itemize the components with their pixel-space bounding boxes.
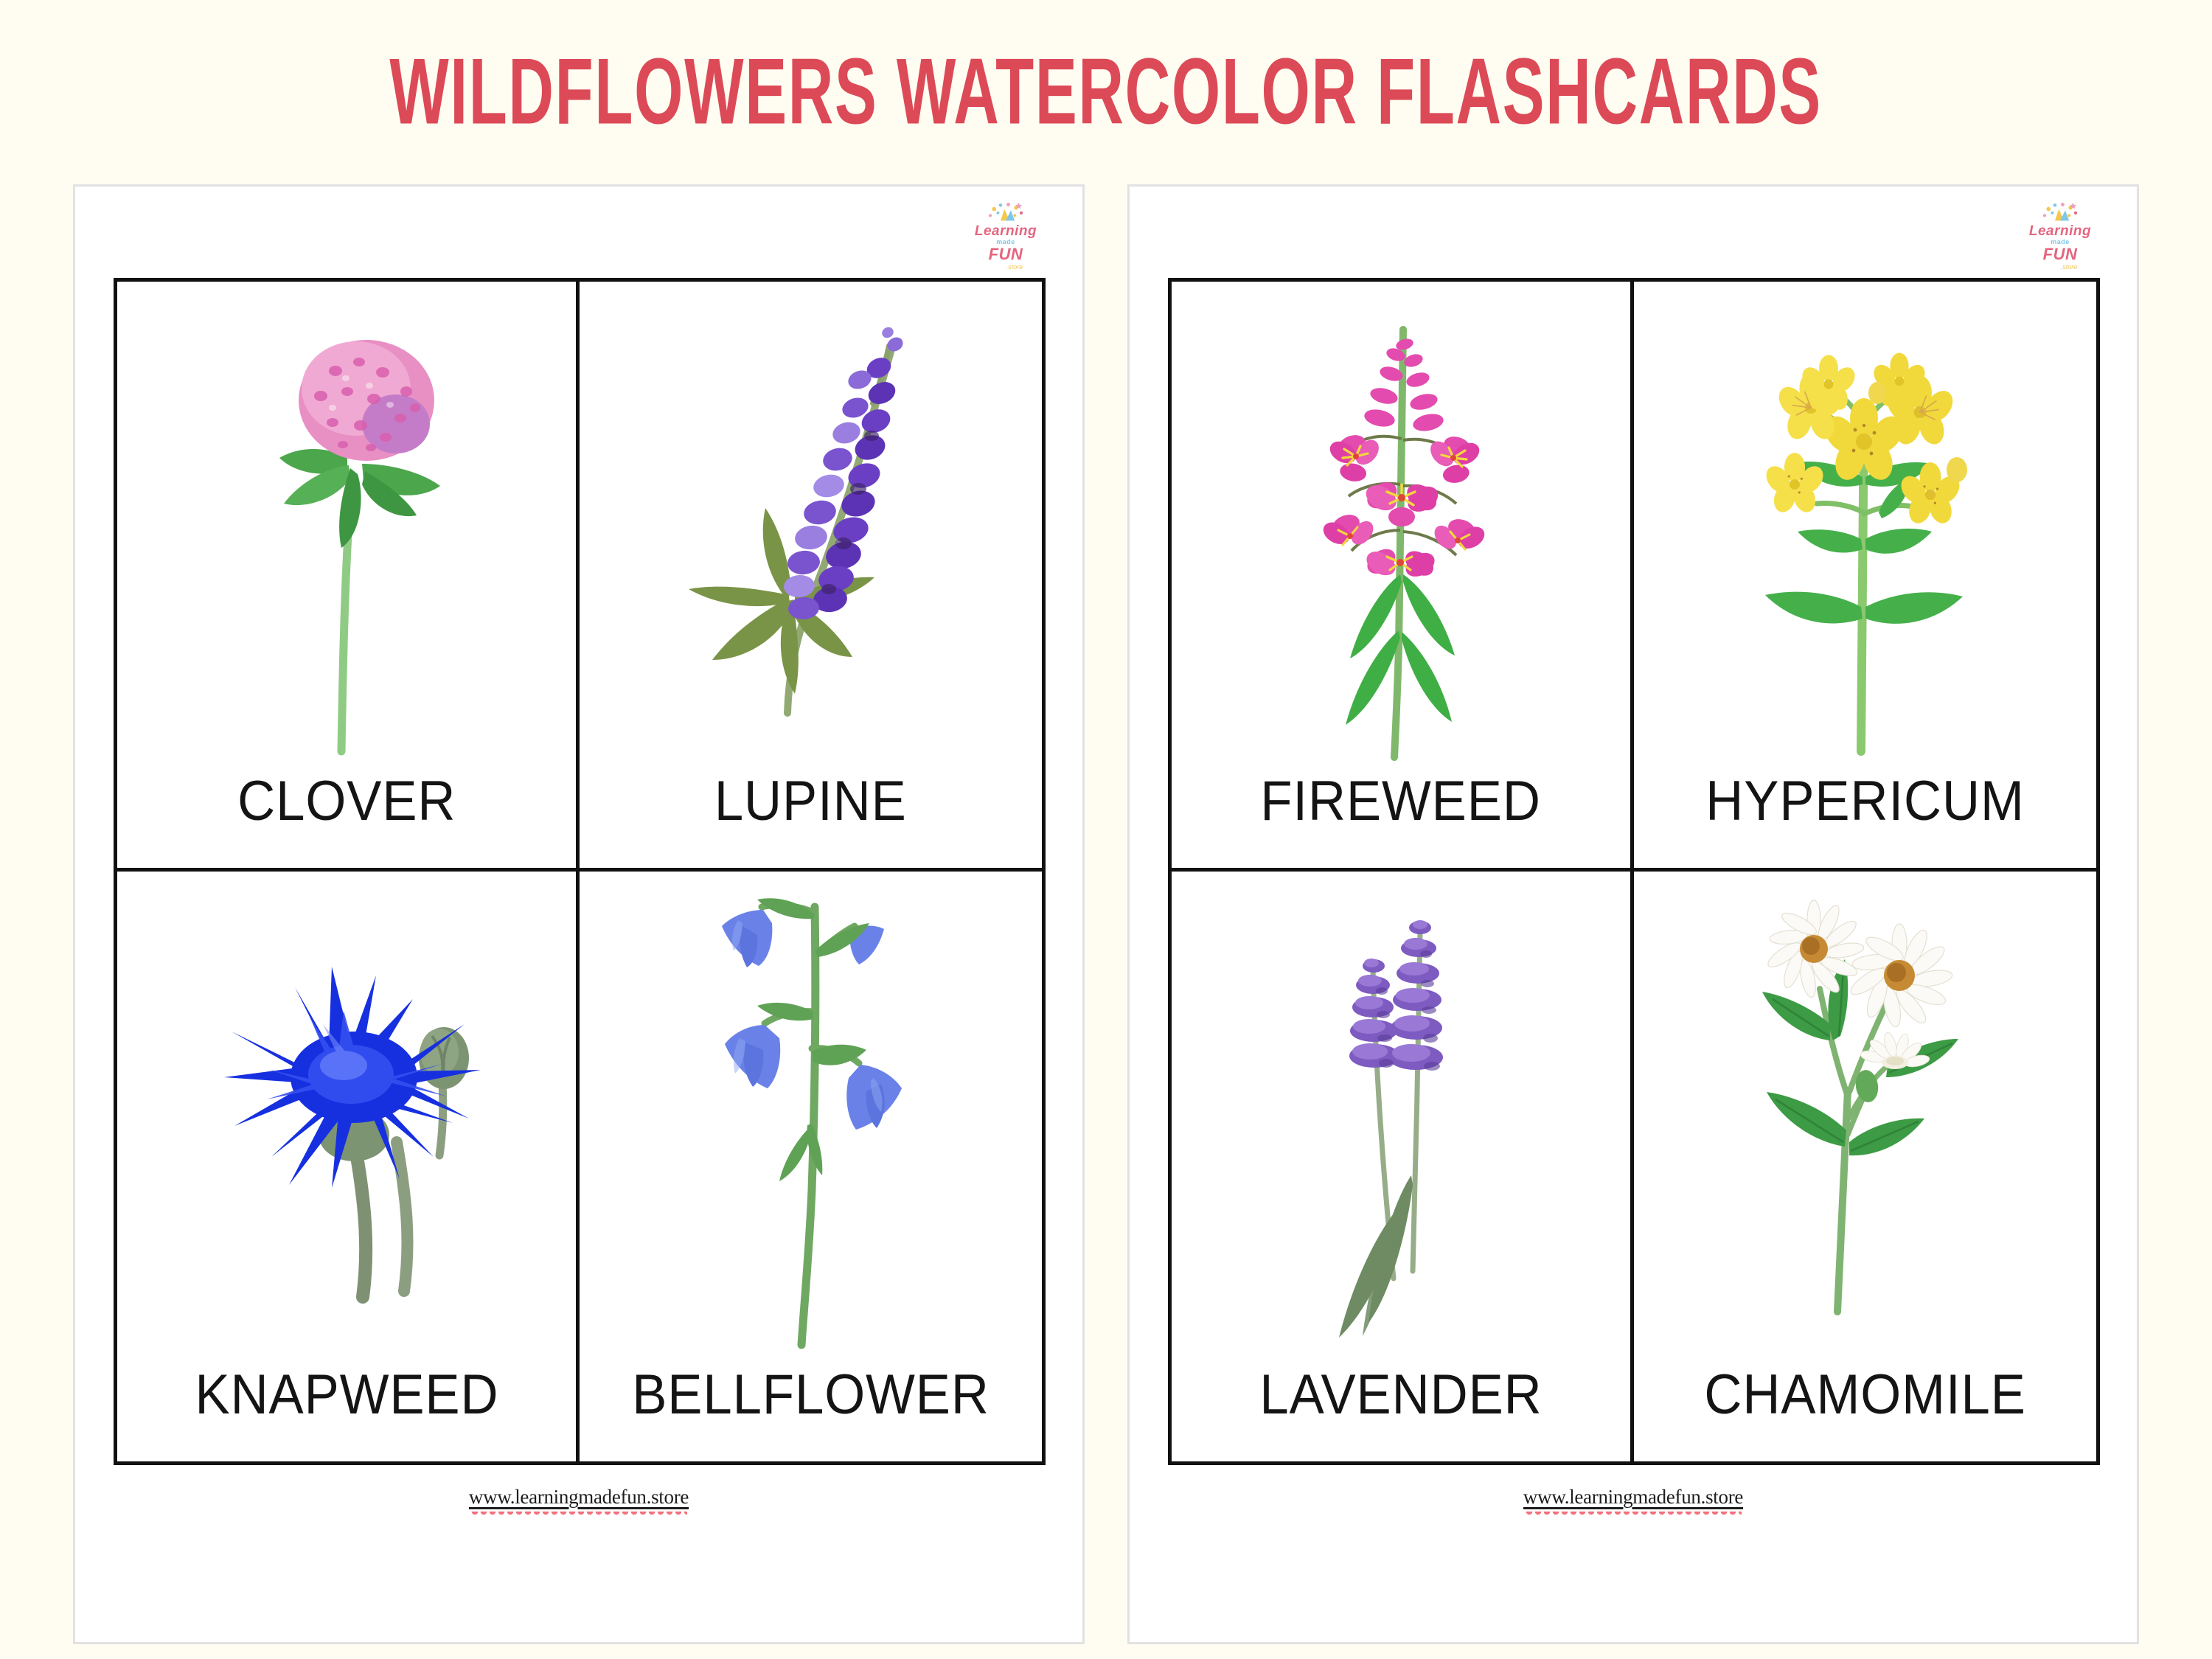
flashcard-lavender[interactable]: LAVENDER (1172, 872, 1634, 1461)
brand-line-learning: Learning (975, 224, 1037, 238)
flashcard-sheet-right: Learning made FUN .store (1127, 184, 2139, 1644)
hypericum-illustration (1634, 282, 2096, 773)
footer-url[interactable]: www.learningmadefun.store (1523, 1486, 1743, 1509)
brand-line-fun: FUN (2043, 246, 2078, 262)
lavender-illustration (1172, 872, 1630, 1367)
sheet-footer: www.learningmadefun.store (1168, 1465, 2098, 1642)
brand-logo: Learning made FUN .store (2017, 201, 2103, 272)
brand-line-fun: FUN (989, 246, 1023, 262)
clover-illustration (117, 282, 576, 773)
flashcard-label: CLOVER (237, 773, 456, 868)
page-header: WILDFLOWERS WATERCOLOR FLASHCARDS (0, 0, 2212, 184)
sheet-footer: www.learningmadefun.store (114, 1465, 1044, 1642)
brand-line-learning: Learning (2029, 224, 2091, 238)
flashcard-fireweed[interactable]: FIREWEED (1172, 282, 1634, 872)
brand-line-made: made (996, 238, 1015, 247)
flashcard-lupine[interactable]: LUPINE (580, 282, 1042, 872)
flashcard-label: CHAMOMILE (1704, 1367, 2025, 1461)
knapweed-illustration (117, 872, 576, 1367)
chamomile-illustration (1634, 872, 2096, 1367)
flashcard-hypericum[interactable]: HYPERICUM (1634, 282, 2096, 872)
flashcard-grid-right: FIREWEED (1168, 278, 2100, 1465)
flashcard-label: HYPERICUM (1705, 773, 2024, 868)
brand-line-made: made (2051, 238, 2070, 247)
flashcard-label: KNAPWEED (195, 1367, 498, 1461)
flashcard-clover[interactable]: CLOVER (117, 282, 580, 872)
flashcard-label: LAVENDER (1259, 1367, 1542, 1461)
flashcard-label: BELLFLOWER (632, 1367, 990, 1461)
flashcard-chamomile[interactable]: CHAMOMILE (1634, 872, 2096, 1461)
flashcard-label: FIREWEED (1261, 773, 1541, 868)
flashcard-bellflower[interactable]: BELLFLOWER (580, 872, 1042, 1461)
lupine-illustration (580, 282, 1042, 773)
brand-line-store: .store (2061, 262, 2078, 272)
flashcard-knapweed[interactable]: KNAPWEED (117, 872, 580, 1461)
fireweed-illustration (1172, 282, 1630, 773)
confetti-burst-icon (978, 201, 1034, 223)
flashcard-sheets: Learning made FUN .store (0, 184, 2212, 1644)
page-title: WILDFLOWERS WATERCOLOR FLASHCARDS (390, 38, 1823, 145)
flashcard-grid-left: CLOVER (114, 278, 1046, 1465)
footer-url[interactable]: www.learningmadefun.store (469, 1486, 689, 1509)
brand-line-store: .store (1006, 262, 1023, 272)
brand-logo: Learning made FUN .store (963, 201, 1048, 272)
confetti-burst-icon (2032, 201, 2088, 223)
flashcard-label: LUPINE (714, 773, 907, 868)
flashcard-sheet-left: Learning made FUN .store (73, 184, 1085, 1644)
bellflower-illustration (580, 872, 1042, 1367)
